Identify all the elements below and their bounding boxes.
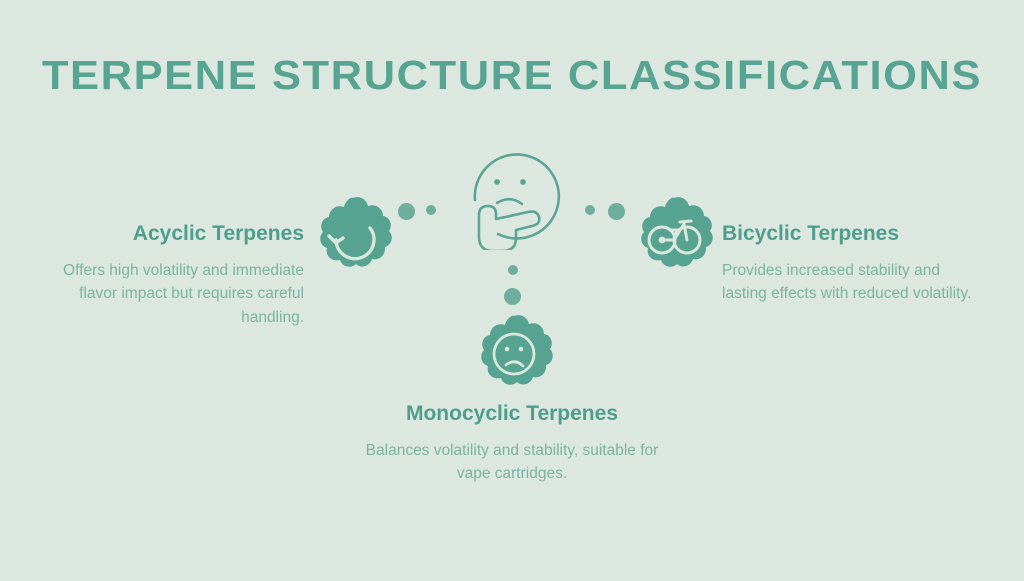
- bicycle-glyph: [634, 196, 714, 276]
- section-heading-monocyclic: Monocyclic Terpenes: [347, 401, 677, 426]
- section-acyclic: Acyclic Terpenes Offers high volatility …: [52, 221, 304, 329]
- connector-dot: [426, 205, 436, 215]
- section-body-monocyclic: Balances volatility and stability, suita…: [347, 439, 677, 486]
- connector-dot: [608, 203, 625, 220]
- refresh-arrow-glyph: [313, 196, 393, 276]
- thinking-face-icon: [462, 138, 562, 250]
- page-title: Terpene Structure Classifications: [0, 52, 1024, 99]
- refresh-arrow-icon: [313, 196, 393, 276]
- connector-dot: [585, 205, 595, 215]
- section-monocyclic: Monocyclic Terpenes Balances volatility …: [347, 401, 677, 486]
- section-body-bicyclic: Provides increased stability and lasting…: [722, 259, 980, 306]
- section-heading-bicyclic: Bicyclic Terpenes: [722, 221, 980, 246]
- sad-face-icon: [474, 314, 554, 394]
- thinking-face-glyph: [462, 138, 562, 250]
- section-body-acyclic: Offers high volatility and immediate fla…: [52, 259, 304, 329]
- bicycle-icon: [634, 196, 714, 276]
- infographic-canvas: Terpene Structure Classifications: [0, 0, 1024, 581]
- connector-dot: [508, 265, 518, 275]
- section-bicyclic: Bicyclic Terpenes Provides increased sta…: [722, 221, 980, 306]
- connector-dot: [504, 288, 521, 305]
- section-heading-acyclic: Acyclic Terpenes: [52, 221, 304, 246]
- connector-dot: [398, 203, 415, 220]
- sad-face-glyph: [474, 314, 554, 394]
